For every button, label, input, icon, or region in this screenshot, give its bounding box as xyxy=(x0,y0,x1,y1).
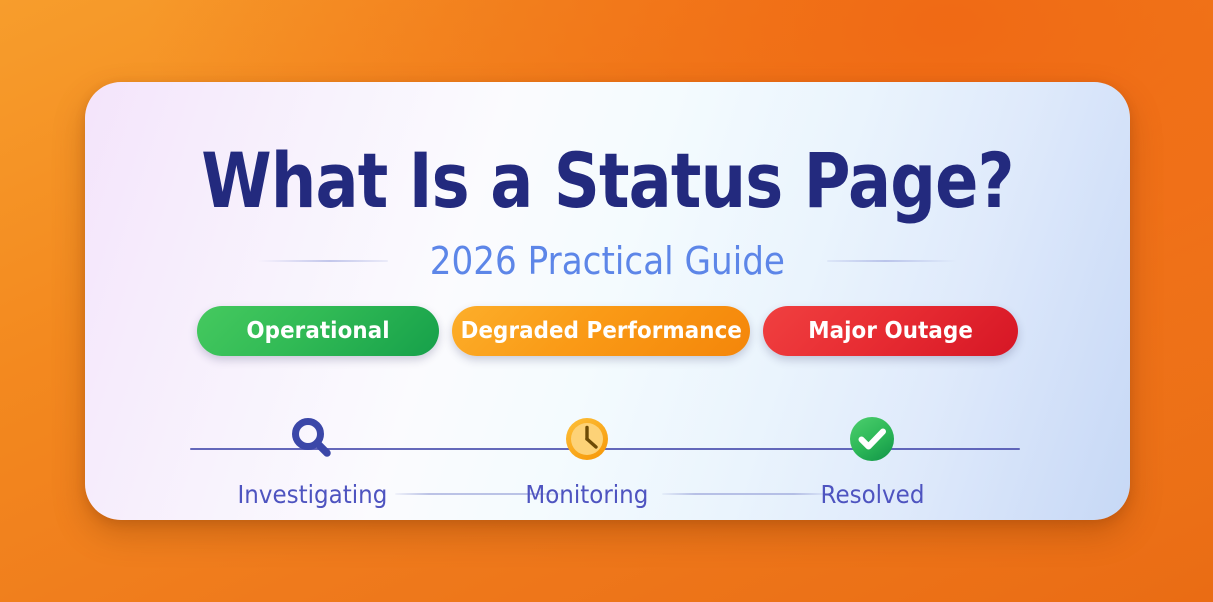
timeline-step-monitoring-label: Monitoring xyxy=(526,480,649,509)
page-subtitle: 2026 Practical Guide xyxy=(430,239,785,283)
info-card: What Is a Status Page? 2026 Practical Gu… xyxy=(85,82,1130,520)
status-pill-group: Operational Degraded Performance Major O… xyxy=(85,306,1130,356)
magnifier-icon xyxy=(285,413,339,465)
incident-timeline: Investigating xyxy=(190,398,1020,498)
subtitle-row: 2026 Practical Guide xyxy=(85,238,1130,284)
status-pill-degraded-performance-label: Degraded Performance xyxy=(460,318,741,344)
timeline-step-investigating-label: Investigating xyxy=(237,480,387,509)
timeline-step-resolved[interactable]: Resolved xyxy=(812,413,932,509)
status-pill-degraded-performance[interactable]: Degraded Performance xyxy=(452,306,750,356)
timeline-step-resolved-label: Resolved xyxy=(820,480,924,509)
timeline-label-connector-2 xyxy=(662,493,827,495)
page-title: What Is a Status Page? xyxy=(169,138,1047,224)
poster-canvas: What Is a Status Page? 2026 Practical Gu… xyxy=(0,0,1213,602)
status-pill-major-outage[interactable]: Major Outage xyxy=(763,306,1018,356)
subtitle-rule-right xyxy=(827,260,957,262)
clock-icon xyxy=(560,413,614,465)
status-pill-major-outage-label: Major Outage xyxy=(808,318,973,344)
status-pill-operational-label: Operational xyxy=(246,318,389,344)
status-pill-operational[interactable]: Operational xyxy=(197,306,439,356)
timeline-step-monitoring[interactable]: Monitoring xyxy=(527,413,647,509)
timeline-step-investigating[interactable]: Investigating xyxy=(252,413,372,509)
check-circle-icon xyxy=(845,413,899,465)
subtitle-rule-left xyxy=(258,260,388,262)
